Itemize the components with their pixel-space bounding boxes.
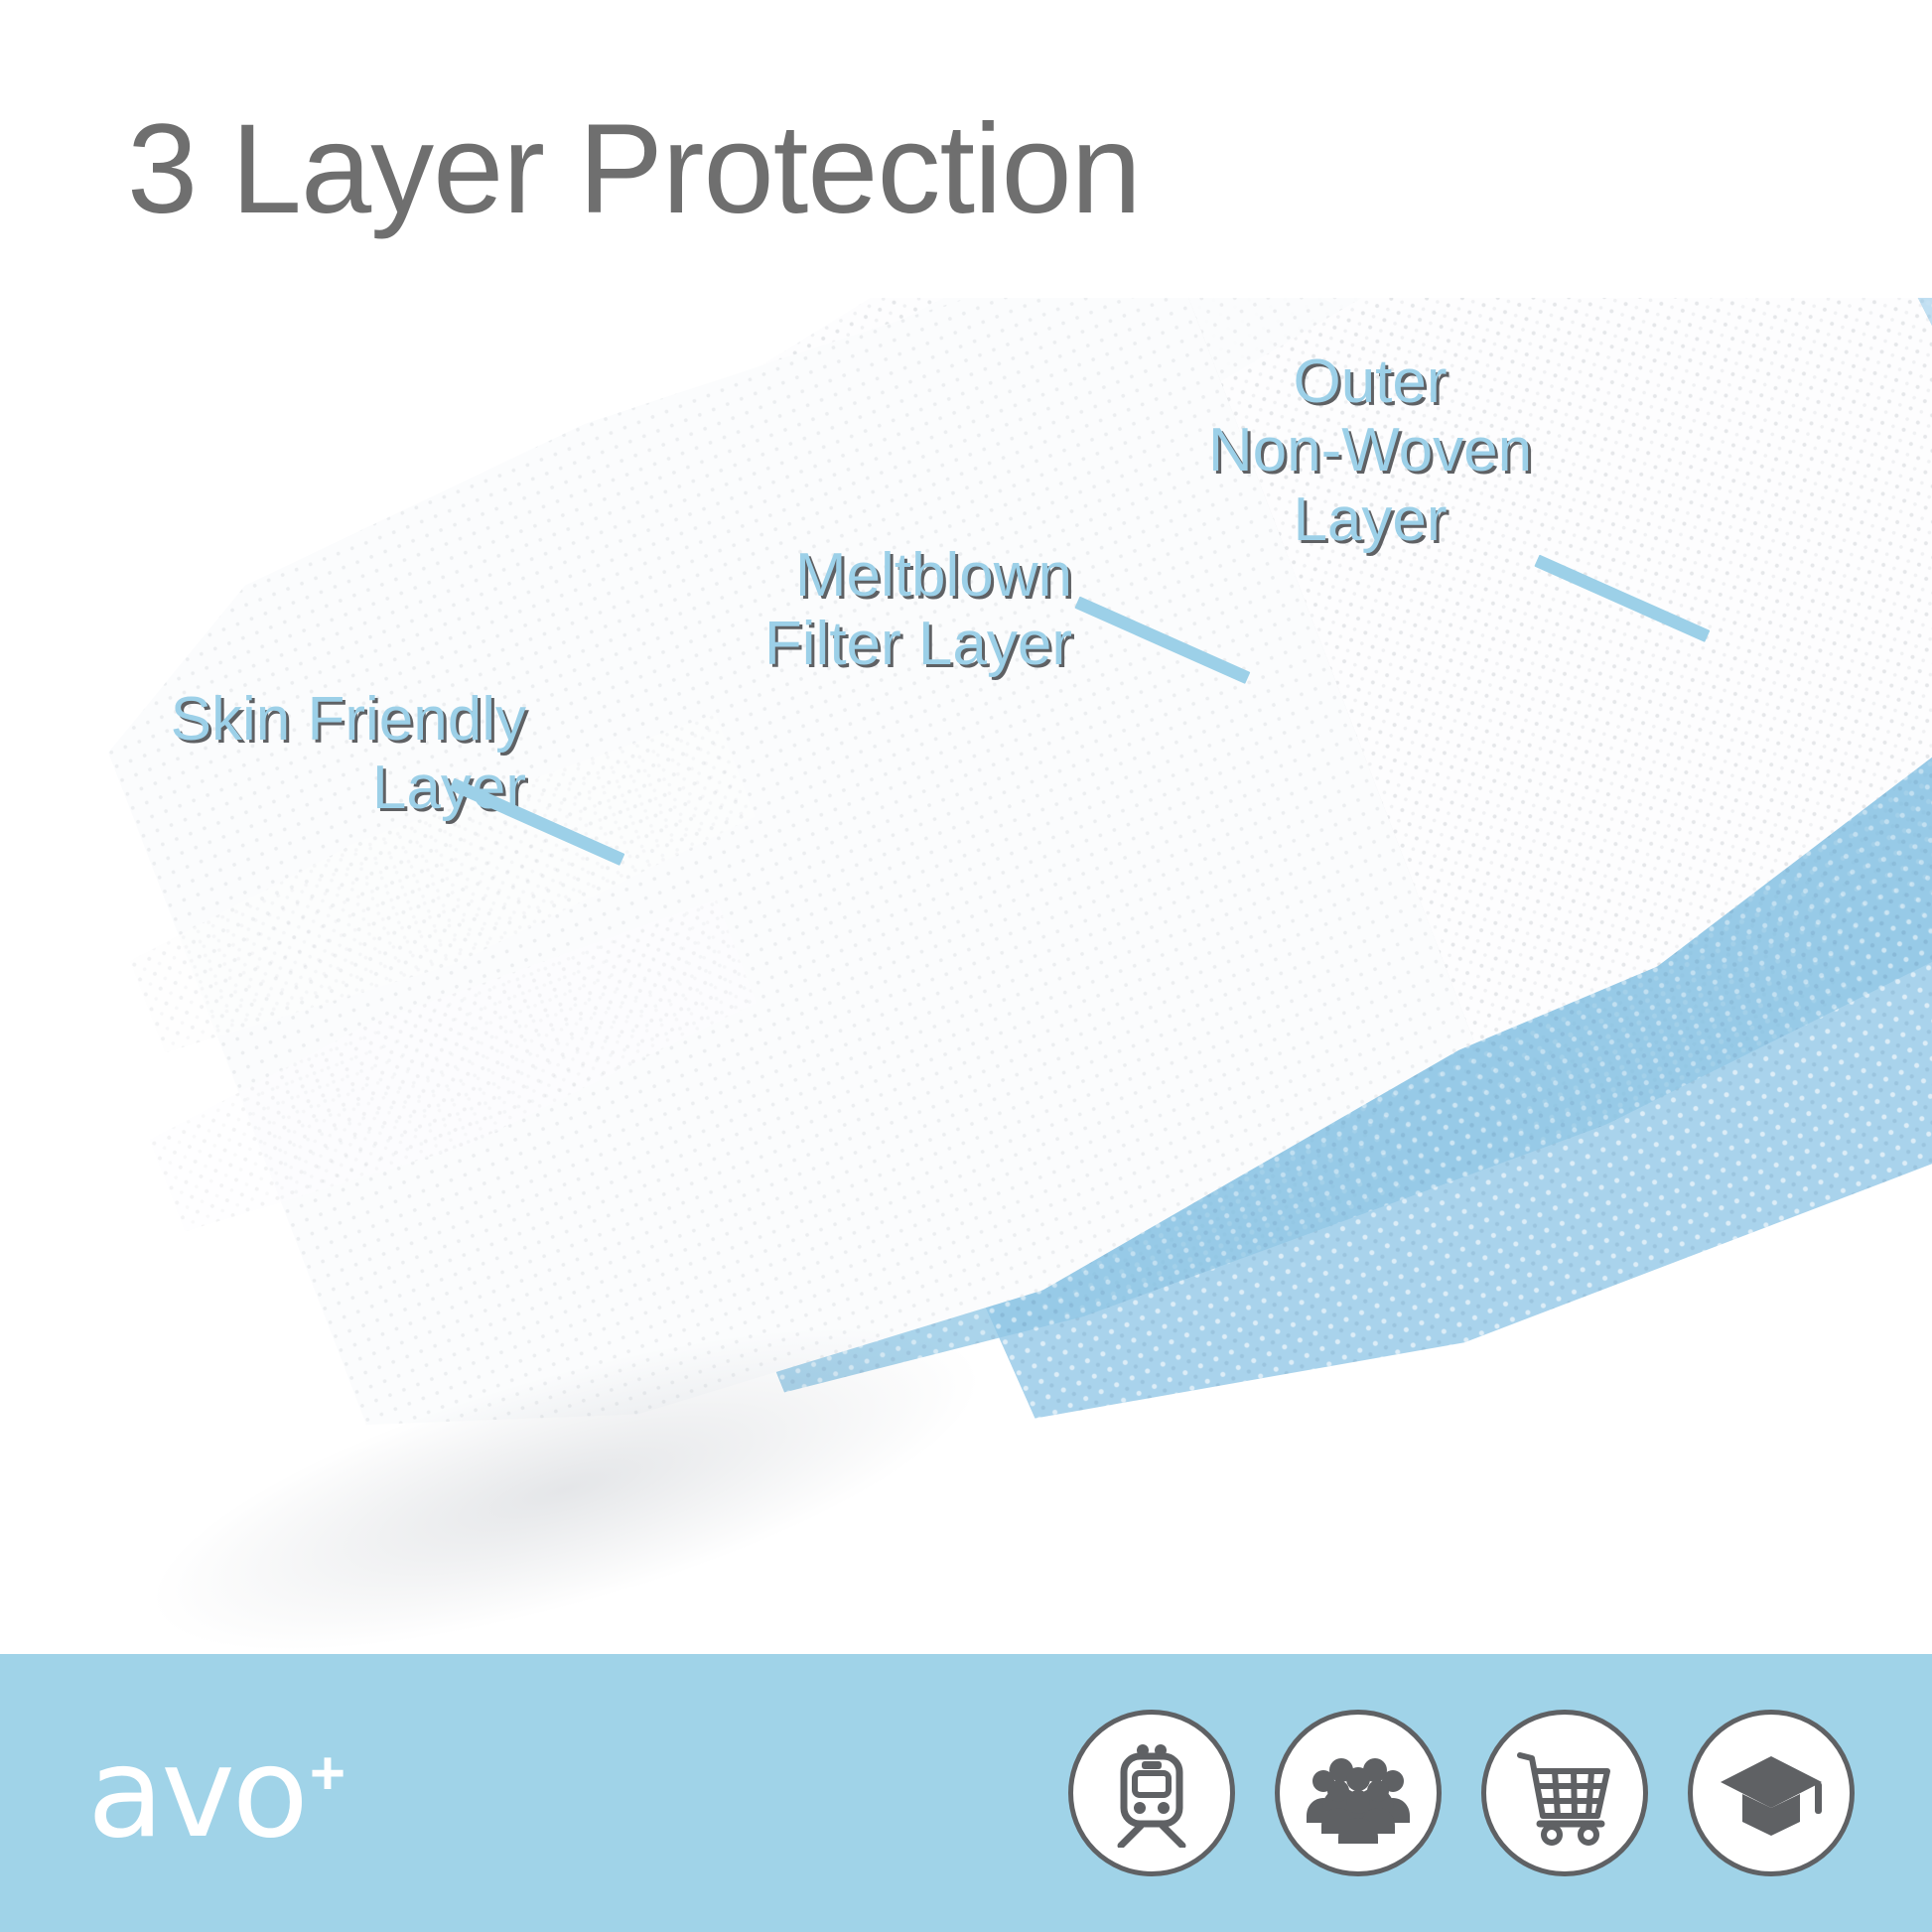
brand-wordmark: avo (87, 1739, 306, 1847)
footer-bar: avo + (0, 1654, 1932, 1932)
callout-meltblown-filter-layer: Meltblown Filter Layer (586, 541, 1072, 679)
brand-plus-icon: + (310, 1743, 345, 1805)
poster-root: 3 Layer Protection Skin Friendly Layer M… (0, 0, 1932, 1932)
train-icon[interactable] (1068, 1710, 1235, 1876)
crowd-icon[interactable] (1275, 1710, 1442, 1876)
page-title: 3 Layer Protection (127, 103, 1141, 236)
brand-logo: avo + (87, 1739, 345, 1847)
callout-skin-friendly-layer: Skin Friendly Layer (60, 685, 526, 823)
mask-illustration (0, 298, 1932, 1688)
callout-outer-non-woven-layer: Outer Non-Woven Layer (1122, 347, 1618, 554)
graduation-cap-icon[interactable] (1688, 1710, 1855, 1876)
footer-icon-group (1068, 1710, 1855, 1876)
shopping-cart-icon[interactable] (1481, 1710, 1648, 1876)
